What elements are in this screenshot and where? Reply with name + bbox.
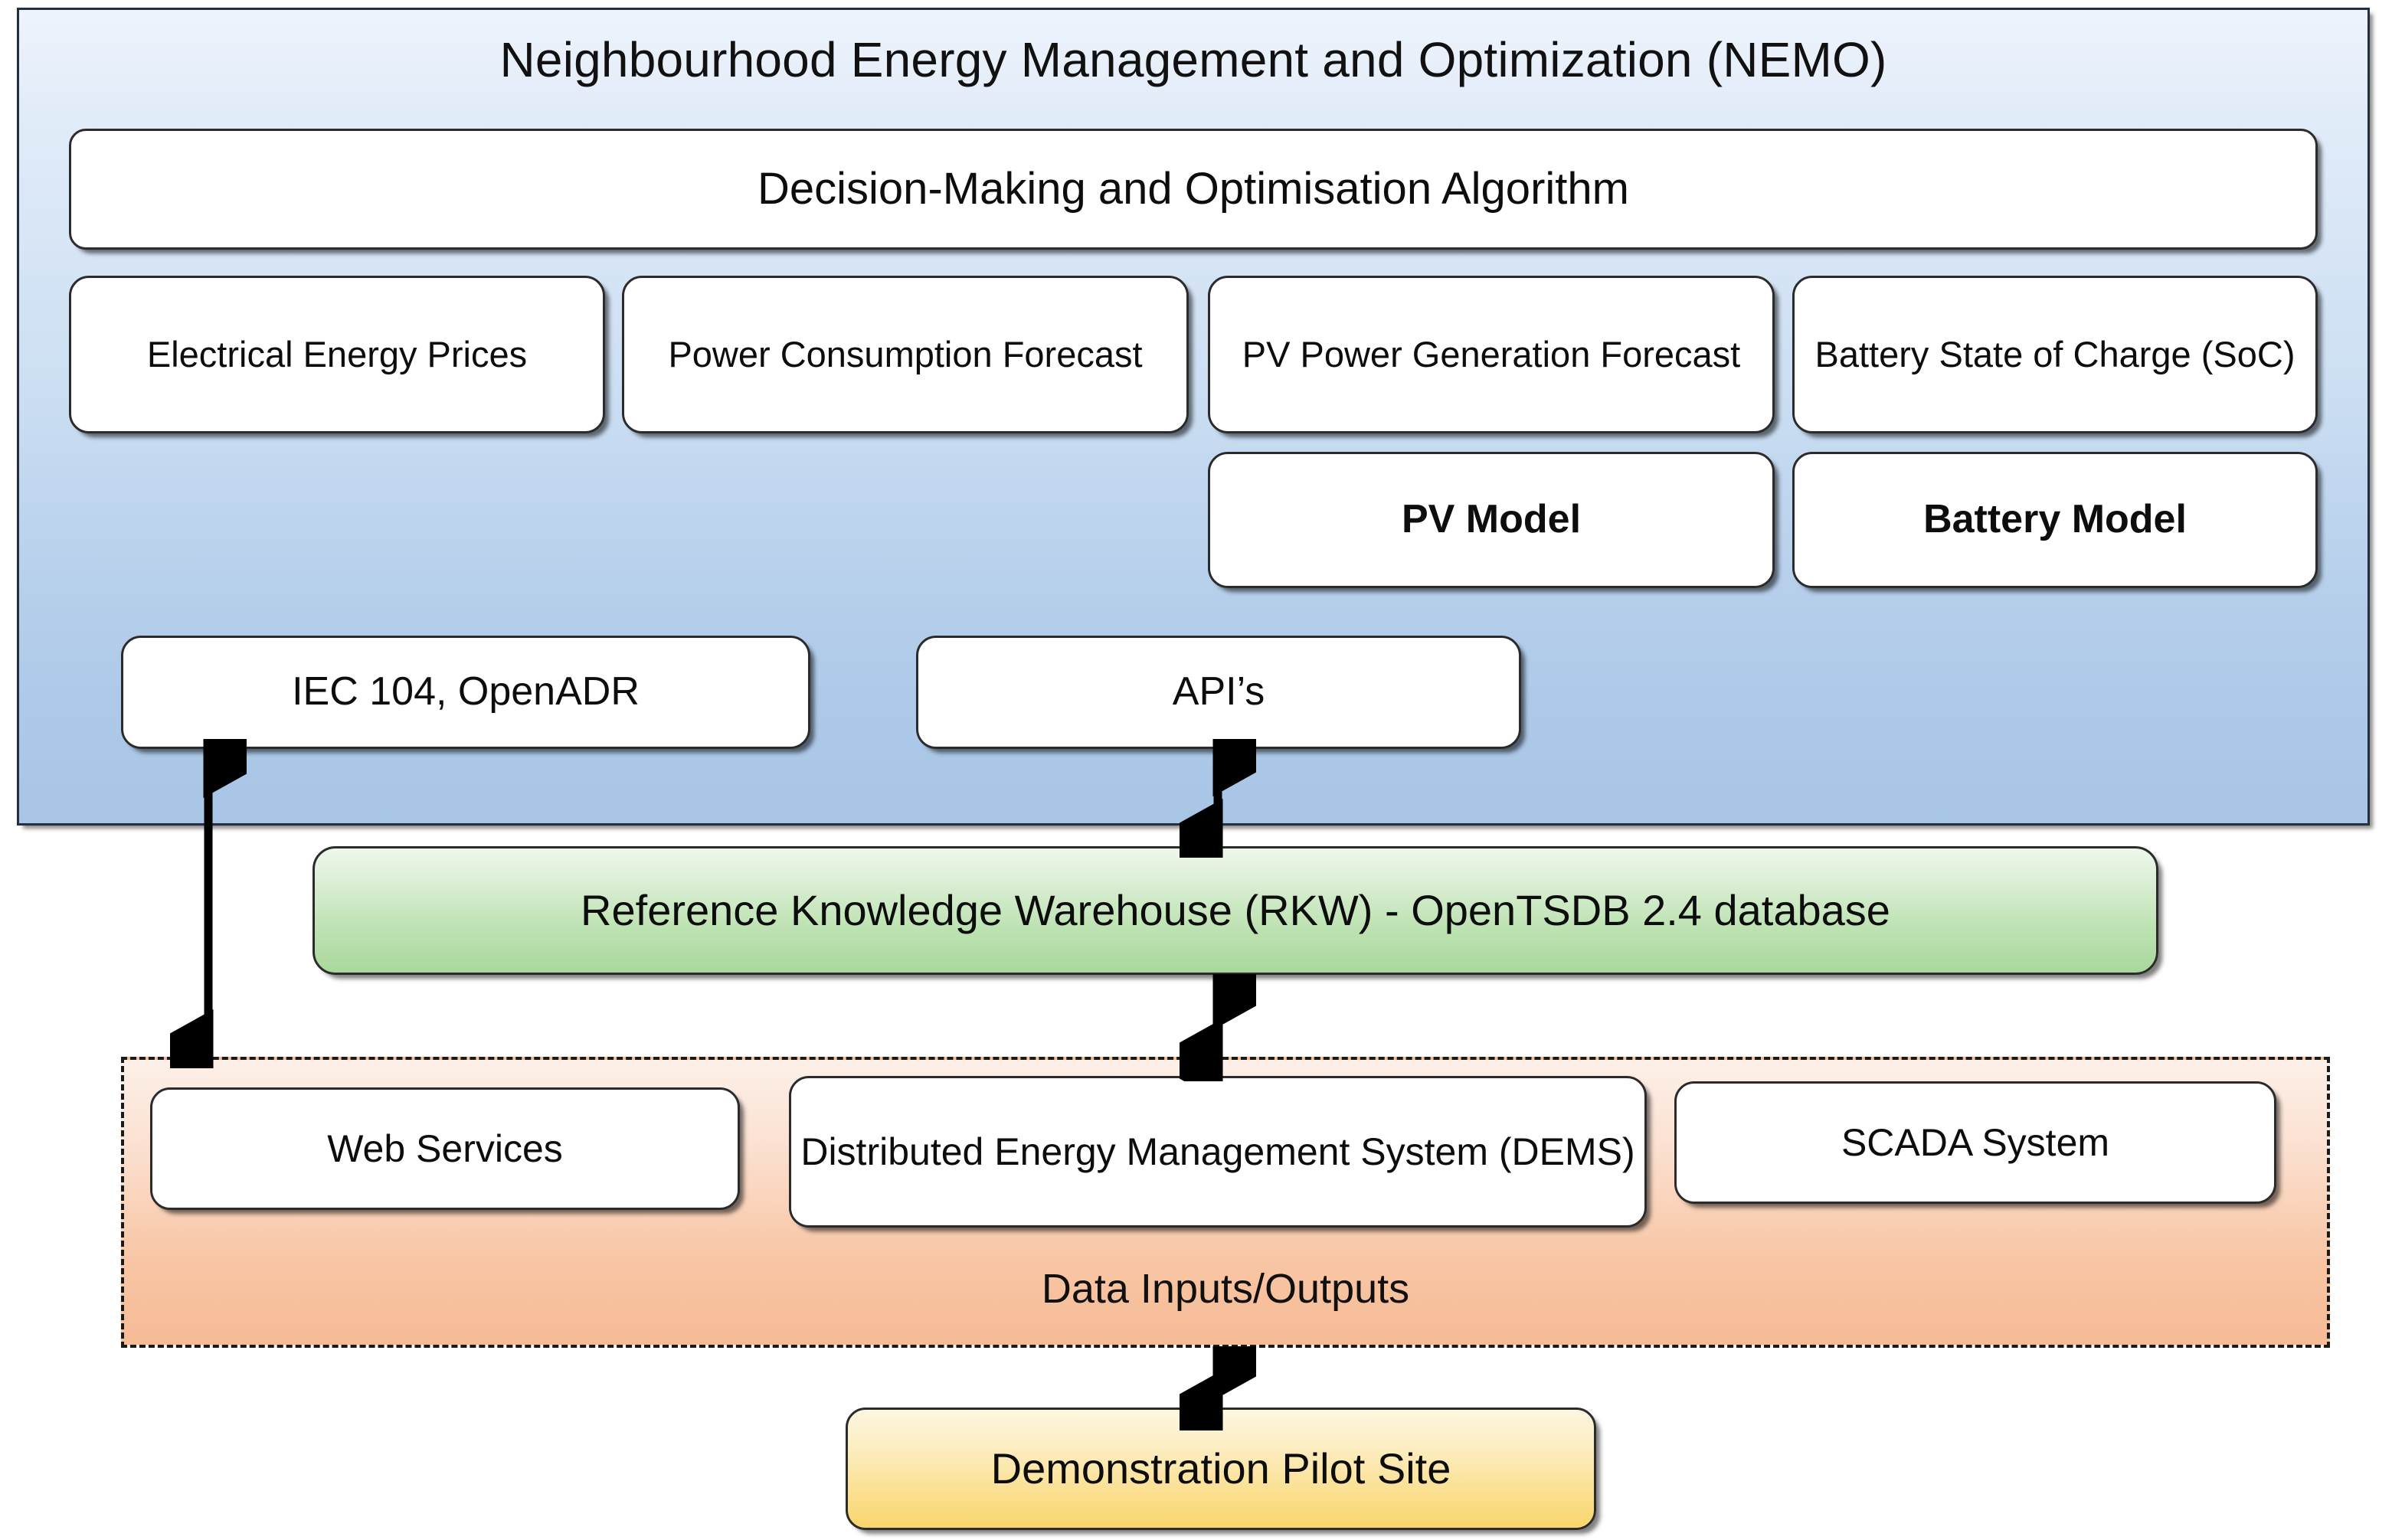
dems-box[interactable]: Distributed Energy Management System (DE… (789, 1076, 1647, 1228)
power-consumption-forecast-box[interactable]: Power Consumption Forecast (622, 276, 1189, 433)
battery-state-of-charge-box[interactable]: Battery State of Charge (SoC) (1792, 276, 2318, 433)
arrow-apis-to-rkw (1180, 739, 1256, 858)
battery-model-box[interactable]: Battery Model (1792, 452, 2318, 588)
decision-making-box[interactable]: Decision-Making and Optimisation Algorit… (69, 129, 2318, 250)
electrical-energy-prices-box[interactable]: Electrical Energy Prices (69, 276, 605, 433)
scada-system-box[interactable]: SCADA System (1674, 1081, 2276, 1204)
nemo-panel-title: Neighbourhood Energy Management and Opti… (19, 31, 2367, 88)
diagram-canvas: Neighbourhood Energy Management and Opti… (0, 0, 2392, 1540)
iec104-openadr-box[interactable]: IEC 104, OpenADR (121, 636, 810, 749)
pv-power-generation-forecast-box[interactable]: PV Power Generation Forecast (1208, 276, 1775, 433)
pv-model-box[interactable]: PV Model (1208, 452, 1775, 588)
reference-knowledge-warehouse-box[interactable]: Reference Knowledge Warehouse (RKW) - Op… (312, 846, 2158, 975)
apis-box[interactable]: API’s (916, 636, 1521, 749)
arrow-iec104-to-data-io (170, 739, 247, 1068)
arrow-rkw-to-data-io (1180, 974, 1256, 1081)
arrow-data-io-to-pilot (1180, 1346, 1256, 1430)
web-services-box[interactable]: Web Services (150, 1087, 740, 1210)
data-inputs-outputs-label: Data Inputs/Outputs (124, 1265, 2327, 1313)
